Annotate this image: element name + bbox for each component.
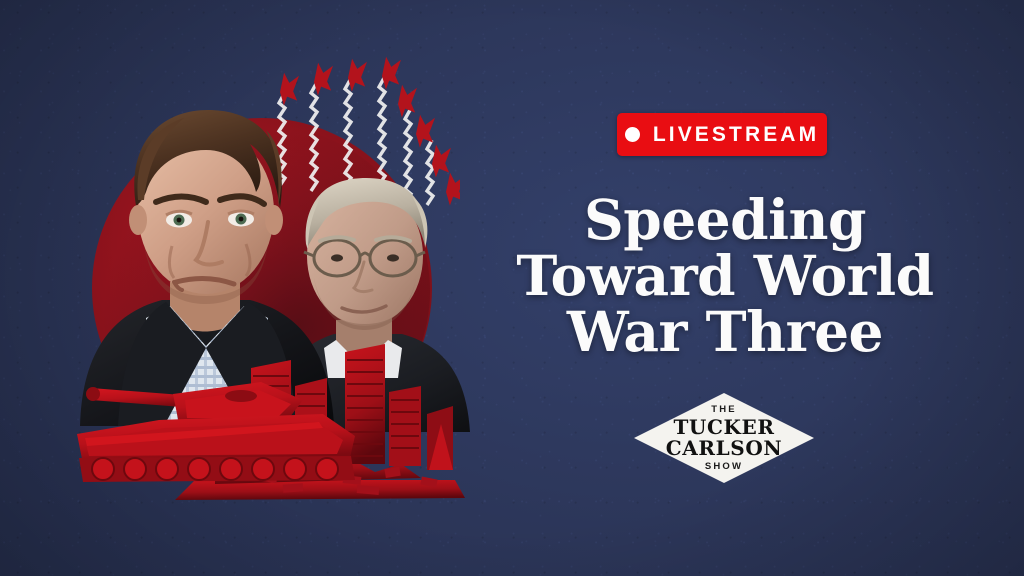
title-line-2: Toward World (500, 248, 950, 304)
video-thumbnail: LIVESTREAM Speeding Toward World War Thr… (0, 0, 1024, 576)
logo-diamond-shape: THE TUCKER CARLSON SHOW (634, 393, 814, 483)
logo-tucker-text: TUCKER (673, 417, 774, 437)
livestream-label: LIVESTREAM (653, 124, 819, 145)
collage-artwork (0, 0, 520, 576)
logo-carlson-text: CARLSON (666, 438, 782, 458)
video-title: Speeding Toward World War Three (500, 192, 950, 360)
livestream-badge[interactable]: LIVESTREAM (617, 113, 827, 156)
title-line-1: Speeding (500, 192, 950, 248)
logo-the-text: THE (711, 404, 737, 415)
war-graphic (55, 330, 475, 510)
show-logo[interactable]: THE TUCKER CARLSON SHOW (634, 393, 814, 483)
live-dot-icon (625, 127, 640, 142)
logo-show-text: SHOW (705, 461, 743, 472)
title-line-3: War Three (500, 304, 950, 360)
